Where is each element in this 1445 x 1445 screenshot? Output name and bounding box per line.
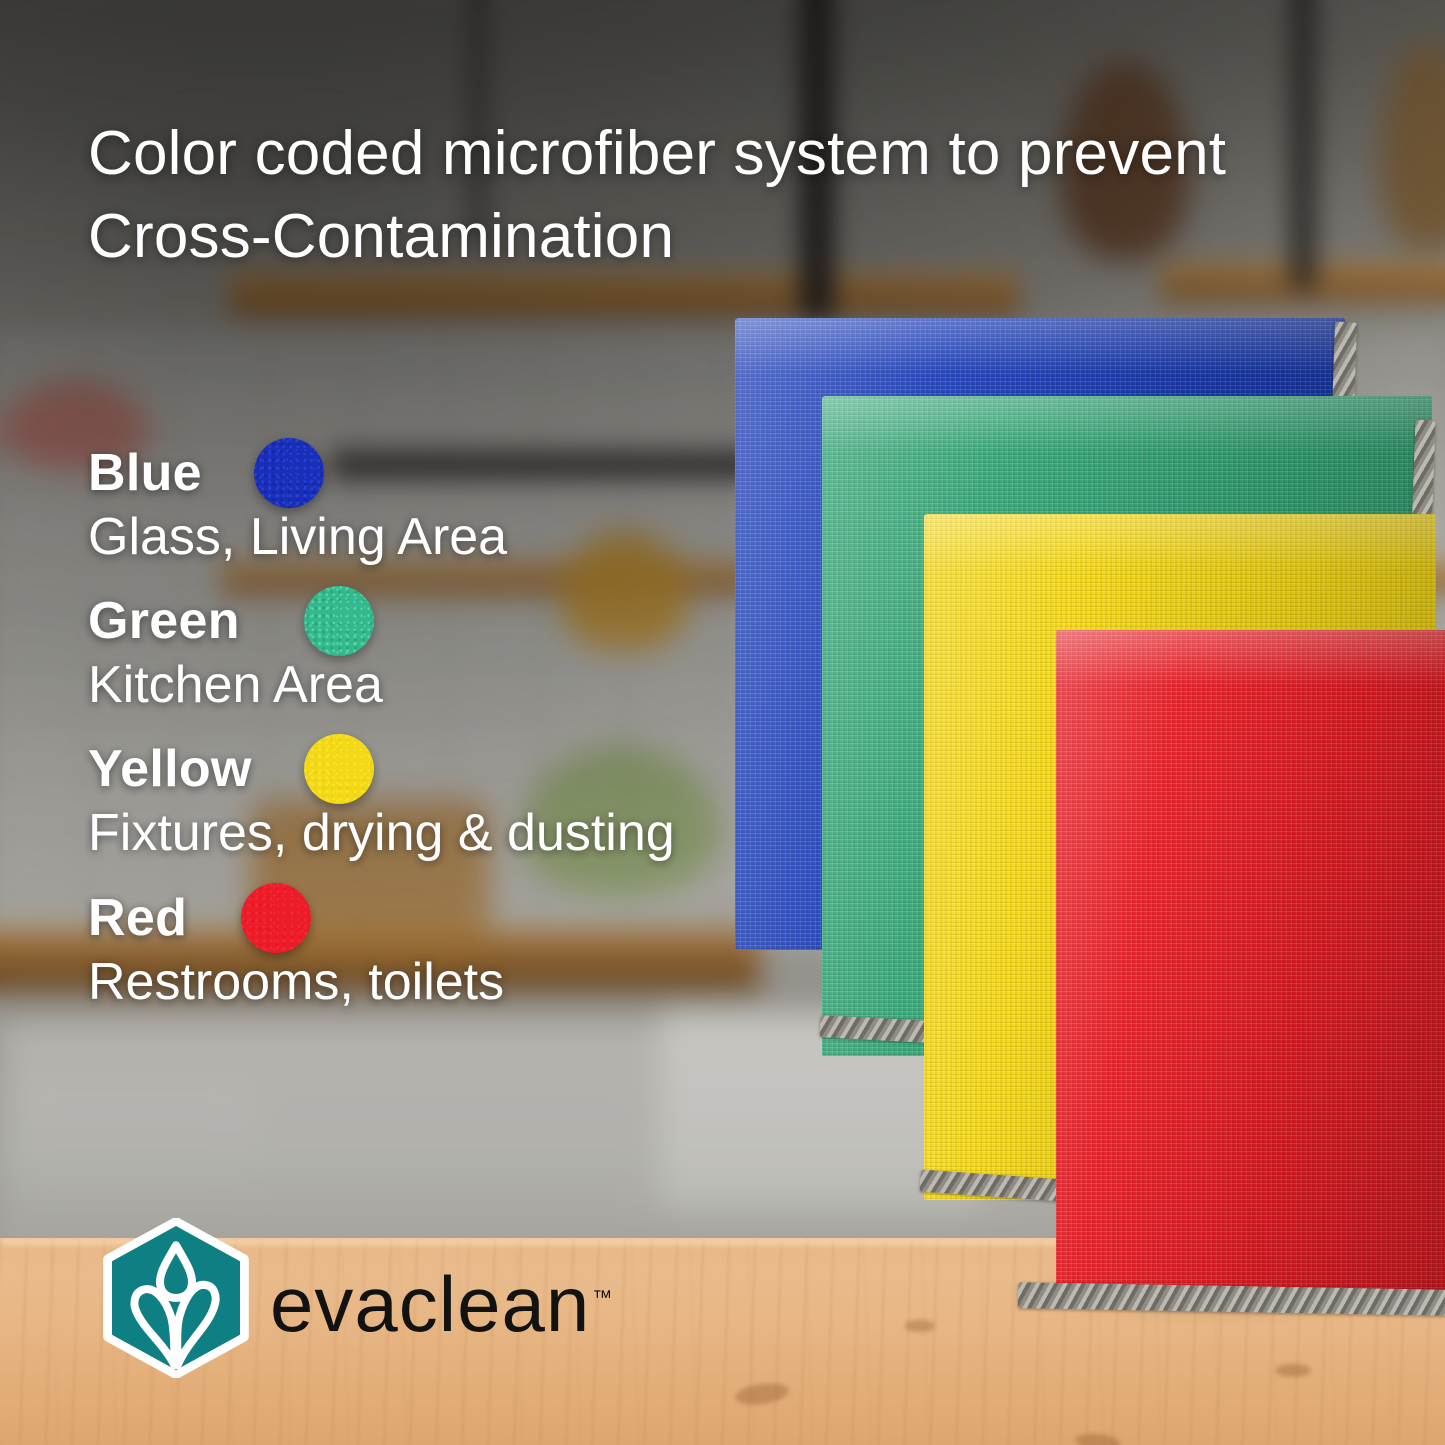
legend-color-name: Blue [88,443,202,503]
headline: Color coded microfiber system to prevent… [88,112,1388,278]
legend-item-green: Green Kitchen Area [88,588,848,714]
cloth-drop-shadow [960,1282,1445,1328]
brand-logo: evaclean™ [96,1218,613,1378]
color-code-legend: Blue Glass, Living Area Green Kitchen Ar… [88,440,848,1033]
brand-wordmark: evaclean™ [270,1265,613,1343]
legend-head: Red [88,885,848,951]
trademark-symbol: ™ [592,1287,613,1309]
hexagon-droplet-leaves-icon [96,1218,256,1378]
legend-head: Green [88,588,848,654]
legend-color-name: Yellow [88,739,252,799]
wood-knot [1275,1364,1311,1377]
legend-item-blue: Blue Glass, Living Area [88,440,848,566]
legend-head: Yellow [88,736,848,802]
wood-knot [905,1320,935,1332]
legend-color-name: Red [88,888,187,948]
legend-item-yellow: Yellow Fixtures, drying & dusting [88,736,848,862]
red-dot-icon [241,883,311,953]
headline-line-1: Color coded microfiber system to prevent [88,112,1388,195]
legend-head: Blue [88,440,848,506]
wordmark-text: evaclean [270,1260,590,1348]
yellow-dot-icon [304,734,374,804]
green-dot-icon [304,586,374,656]
legend-description: Glass, Living Area [88,508,848,566]
infographic-canvas: Color coded microfiber system to prevent… [0,0,1445,1445]
legend-description: Kitchen Area [88,656,848,714]
wood-knot [1074,1432,1121,1445]
headline-line-2: Cross-Contamination [88,195,1388,278]
wood-knot [734,1380,790,1407]
legend-description: Fixtures, drying & dusting [88,804,848,862]
blue-dot-icon [254,438,324,508]
legend-color-name: Green [88,591,240,651]
legend-item-red: Red Restrooms, toilets [88,885,848,1011]
legend-description: Restrooms, toilets [88,953,848,1011]
